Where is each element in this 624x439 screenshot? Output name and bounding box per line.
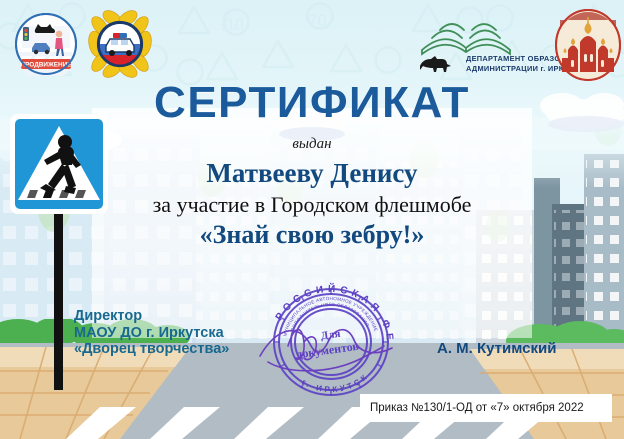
logo-irkutsk-cathedral — [554, 8, 622, 82]
svg-text:70: 70 — [308, 11, 327, 30]
signatory-position: Директор МАОУ ДО г. Иркутска «Дворец тво… — [74, 308, 229, 358]
certificate-canvas: ЛЛ 70 — [0, 0, 624, 439]
logo-gibdd — [86, 10, 154, 78]
signatory-name: А. М. Кутимский — [437, 340, 556, 357]
logo-prodvizhenie: ПРОДВИЖЕНИЕ — [14, 12, 78, 76]
event-name: «Знай свою зебру!» — [0, 220, 624, 250]
order-text: Приказ №130/1-ОД от «7» октября 2022 — [360, 402, 584, 414]
recipient-name: Матвееву Денису — [0, 158, 624, 189]
certificate-title: СЕРТИФИКАТ — [0, 78, 624, 128]
svg-text:ЛЛ: ЛЛ — [222, 15, 244, 34]
award-reason: за участие в Городском флешмобе — [0, 192, 624, 218]
order-band: Приказ №130/1-ОД от «7» октября 2022 — [360, 394, 612, 422]
logo-department-education: ДЕПАРТАМЕНТ ОБРАЗОВАНИЯ АДМИНИСТРАЦИИ г.… — [414, 16, 576, 78]
official-stamp: РОССИЙСКАЯ ФЕДЕРАЦИЯ г. ИРКУТСК МУНИЦИПА… — [258, 282, 404, 400]
awarded-label: выдан — [0, 136, 624, 153]
